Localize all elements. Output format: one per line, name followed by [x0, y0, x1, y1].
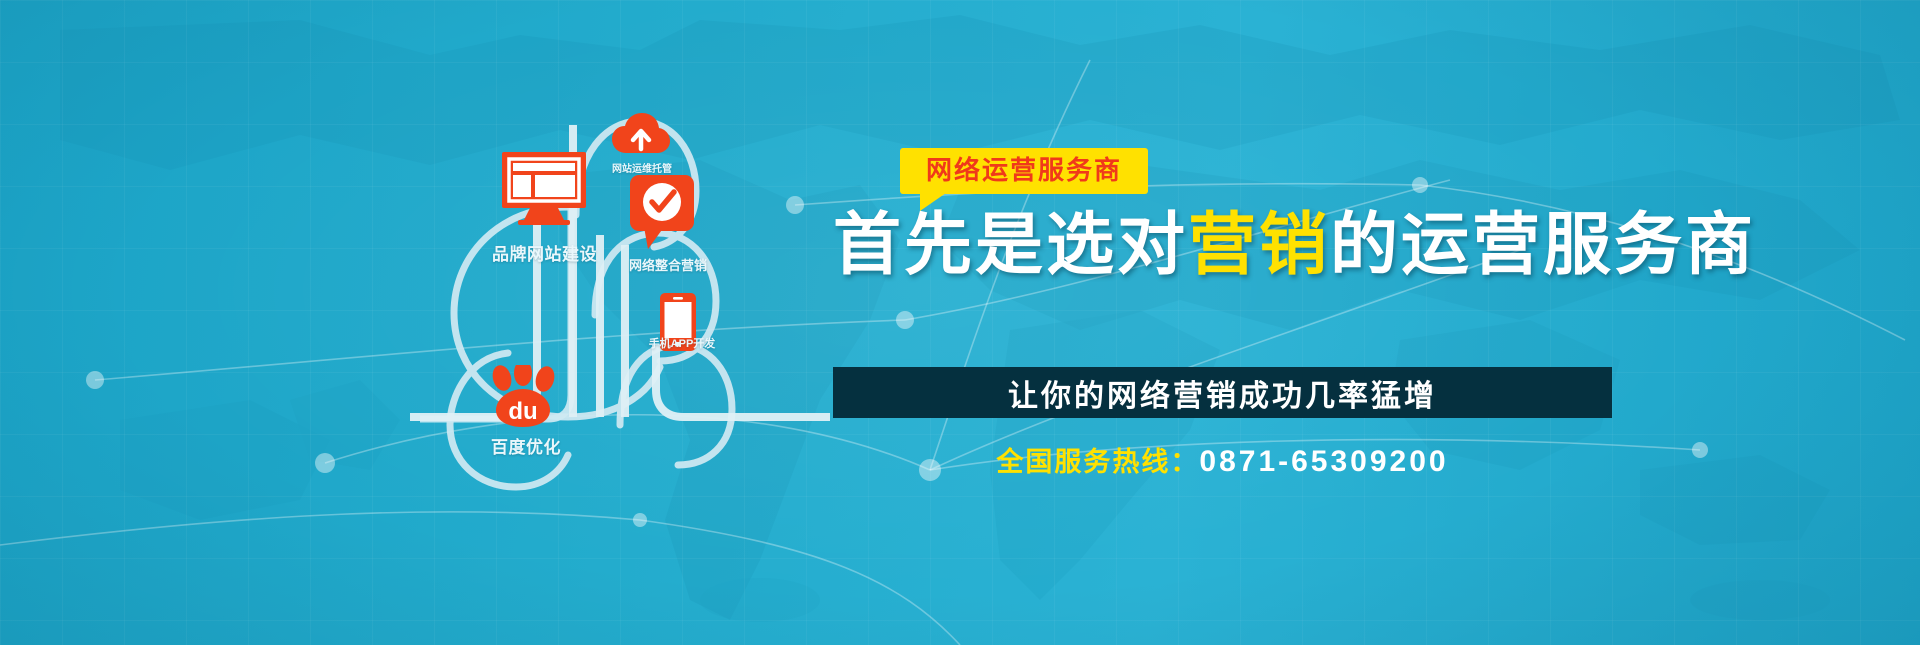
- headline: 首先是选对营销的运营服务商: [833, 210, 1633, 281]
- subheadline-text: 让你的网络营销成功几率猛增: [1008, 371, 1437, 415]
- speech-bubble-check-icon: [630, 175, 698, 249]
- tree-node-label-app-dev: 手机APP开发: [636, 335, 728, 351]
- marketing-banner: 品牌网站建设 网站运维托管 网络整合营销 du 百度优化: [0, 0, 1920, 645]
- service-badge-text: 网络运营服务商: [926, 155, 1122, 185]
- svg-text:du: du: [508, 398, 537, 425]
- tree-node-label-brand-site: 品牌网站建设: [472, 240, 617, 265]
- tree-node-label-baidu-seo: 百度优化: [476, 433, 576, 458]
- headline-part1: 首先是选对: [833, 207, 1188, 283]
- hotline-label: 全国服务热线：: [996, 447, 1199, 477]
- banner-content: 网络运营服务商 首先是选对营销的运营服务商 让你的网络营销成功几率猛增 全国服务…: [833, 148, 1633, 508]
- service-tree-graphic: 品牌网站建设 网站运维托管 网络整合营销 du 百度优化: [420, 95, 840, 535]
- cloud-upload-icon: [612, 113, 670, 157]
- tree-node-label-integrated-marketing: 网络整合营销: [610, 255, 726, 274]
- hotline-number: 0871-65309200: [1199, 445, 1448, 478]
- tree-node-label-site-ops: 网站运维托管: [600, 160, 684, 175]
- monitor-icon: [500, 150, 588, 226]
- hotline: 全国服务热线：0871-65309200: [833, 440, 1612, 479]
- headline-part2: 的运营服务商: [1330, 207, 1756, 283]
- headline-highlight: 营销: [1188, 207, 1330, 283]
- service-badge: 网络运营服务商: [900, 148, 1148, 194]
- baidu-paw-icon: du: [486, 365, 562, 431]
- subheadline-bar: 让你的网络营销成功几率猛增: [833, 367, 1612, 418]
